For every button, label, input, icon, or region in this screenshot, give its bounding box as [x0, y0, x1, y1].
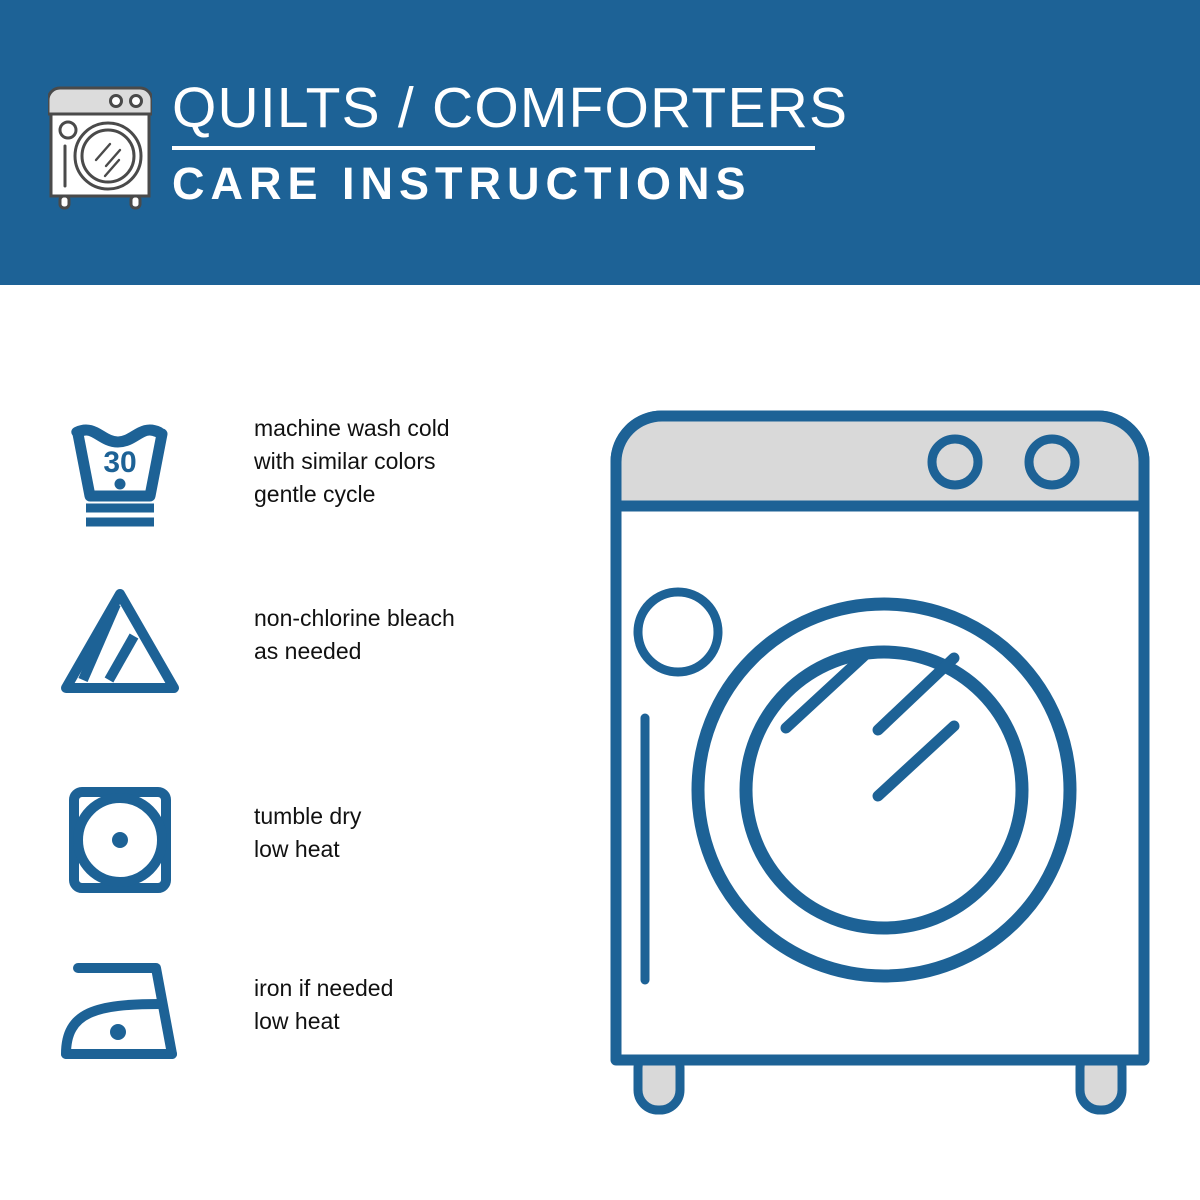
page-subtitle: CARE INSTRUCTIONS	[172, 158, 848, 210]
care-item-label: tumble dry low heat	[254, 780, 361, 866]
care-item-iron: iron if needed low heat	[56, 950, 526, 1070]
washing-machine-illustration	[600, 400, 1160, 1120]
care-item-bleach: non-chlorine bleach as needed	[56, 580, 526, 700]
care-item-label: iron if needed low heat	[254, 950, 393, 1038]
washing-machine-icon	[48, 82, 152, 210]
care-item-machine-wash: 30 machine wash cold with similar colors…	[56, 410, 526, 530]
title-divider	[172, 146, 815, 150]
header-content: QUILTS / COMFORTERS CARE INSTRUCTIONS	[48, 78, 848, 210]
care-item-label: non-chlorine bleach as needed	[254, 580, 455, 668]
bleach-triangle-icon	[56, 580, 184, 700]
wash-tub-icon: 30	[56, 410, 184, 530]
care-symbol-list: 30 machine wash cold with similar colors…	[0, 285, 560, 1200]
care-item-label: machine wash cold with similar colors ge…	[254, 410, 450, 511]
care-instructions-page: QUILTS / COMFORTERS CARE INSTRUCTIONS 30	[0, 0, 1200, 1200]
page-title: QUILTS / COMFORTERS	[172, 78, 848, 138]
wash-temperature-label: 30	[103, 446, 136, 479]
care-item-tumble-dry: tumble dry low heat	[56, 780, 526, 900]
page-header: QUILTS / COMFORTERS CARE INSTRUCTIONS	[0, 0, 1200, 285]
header-title-block: QUILTS / COMFORTERS CARE INSTRUCTIONS	[172, 78, 848, 210]
iron-icon	[56, 950, 184, 1070]
tumble-dry-icon	[56, 780, 184, 900]
